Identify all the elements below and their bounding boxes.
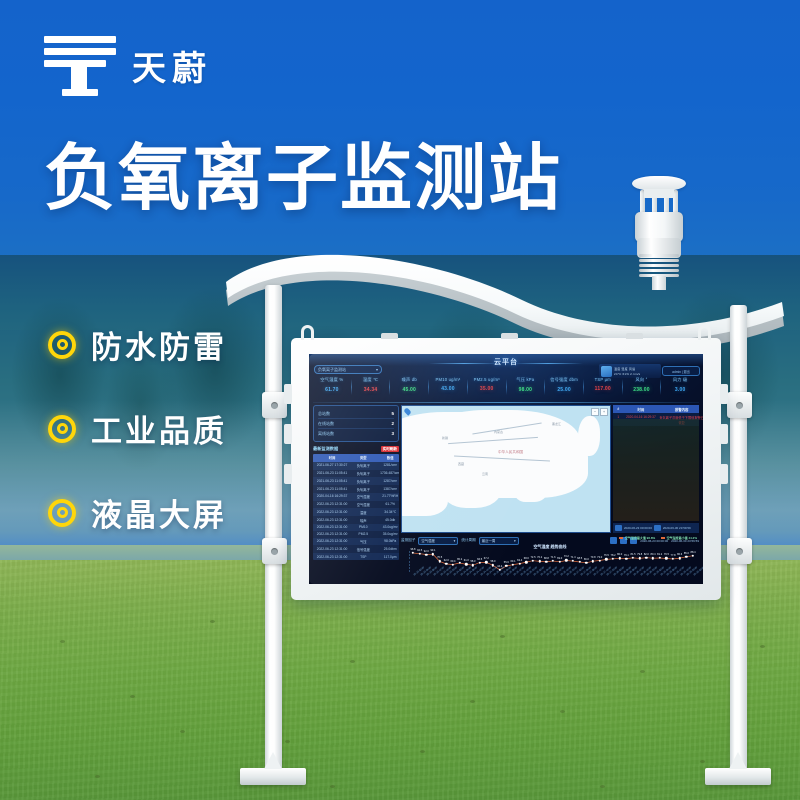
- table-cell: 1287/cm³: [375, 477, 399, 485]
- chart-point-label: 82.0: [644, 553, 649, 556]
- legend-item: 空气湿度最小值 44.2%: [661, 536, 697, 540]
- base-gusset-left: [264, 752, 282, 769]
- alarm-panel: # 时间 报警内容 1 2020-04-16 16:29:37 负氧离子浓度低于…: [613, 405, 699, 533]
- grass-speck: [60, 640, 65, 643]
- map-zoom-out-button[interactable]: −: [591, 408, 599, 416]
- site-selector[interactable]: 负氧离子监测站 ▾: [314, 365, 382, 374]
- table-cell: 负氧离子: [351, 485, 375, 493]
- chart-point-label: 72.5: [530, 556, 535, 559]
- alarm-col-index: #: [613, 405, 624, 413]
- post-clamp-right-lower: [727, 538, 752, 564]
- left-panel: 总站数5在线站数2离线站数3 最新监测数据 实时刷新 时间类型数值2021-06…: [313, 405, 399, 533]
- chart-point-label: 81.2: [657, 553, 662, 556]
- base-gusset-right: [729, 752, 747, 769]
- grass-speck: [95, 775, 100, 778]
- table-cell: 1736.487/cm³: [375, 470, 399, 478]
- calendar-icon[interactable]: [615, 525, 622, 531]
- ring-bullet-icon: [48, 331, 76, 359]
- table-cell: 2022-06-23 12:31:00: [313, 508, 351, 516]
- bar-chart-icon[interactable]: [610, 537, 617, 544]
- grass-speck: [180, 730, 185, 733]
- stat-key: 在线站数: [318, 421, 334, 427]
- sensor-mast: [652, 276, 666, 290]
- factor-label: 监测因子: [401, 538, 415, 543]
- alarm-footer[interactable]: 2020-06-23 00:00:00 2020-06-30 23:59:59: [613, 523, 699, 533]
- side-pad: [284, 464, 292, 484]
- chart-point-label: 92.0: [424, 549, 429, 552]
- lcd-screen[interactable]: 云平台 负氧离子监测站 ▾ 温度 湿度 风速 24°C 61% 2.1m/s a…: [309, 354, 703, 584]
- table-row[interactable]: 2022-06-23 12:31:00噪声45.0db: [313, 516, 399, 524]
- search-icon[interactable]: [654, 525, 661, 531]
- chart-point-label: 70.5: [437, 556, 442, 559]
- humidity-trend-chart: 空气湿度 趋势曲线 空气湿度最大值 96.8% 空气湿度最小值 44.2% 96…: [401, 544, 699, 582]
- chart-point-label: 70.8: [590, 556, 595, 559]
- table-cell: 2022-06-23 12:31:00: [313, 501, 351, 509]
- metric-value: 43.00: [429, 386, 467, 392]
- metric-label: 风向 °: [623, 377, 661, 383]
- chart-point-label: 78.2: [611, 554, 616, 557]
- chart-point-label: 69.0: [557, 557, 562, 560]
- legend-label: 空气湿度最小值 44.2%: [667, 536, 697, 540]
- data-table-title: 最新监测数据: [313, 446, 338, 452]
- brand-name: 天蔚: [132, 41, 212, 90]
- chart-point-label: 73.0: [597, 555, 602, 558]
- table-cell: 空气湿度: [351, 493, 375, 501]
- chart-point-label: 88.4: [691, 551, 696, 554]
- map-landmass-korea: [552, 436, 568, 458]
- chart-point-label: 76.5: [604, 554, 609, 557]
- side-pad: [720, 464, 728, 484]
- table-row[interactable]: 2020-04-16 16:29:37空气湿度21.77%RH: [313, 493, 399, 501]
- table-row[interactable]: 2021-06-23 11:05:41负氧离子1287/cm³: [313, 477, 399, 485]
- chart-y-tick: [409, 561, 410, 562]
- grass-specks: [0, 600, 800, 800]
- period-label: 统计周期: [461, 538, 475, 543]
- table-cell: 21.77%RH: [375, 493, 399, 501]
- metric-value: 35.00: [468, 386, 506, 392]
- table-row[interactable]: 2021-06-27 17:30:27负氧离子1281/cm³: [313, 462, 399, 470]
- metric-label: 温度 ℃: [352, 377, 390, 383]
- grass-speck: [130, 695, 135, 698]
- feature-item: 防水防雷: [48, 322, 227, 367]
- chart-point-label: 67.2: [484, 557, 489, 560]
- feature-label: 工业品质: [91, 406, 227, 451]
- grass-speck: [470, 700, 475, 703]
- chart-point-label: 93.1: [430, 549, 435, 552]
- stat-key: 离线站数: [318, 431, 334, 437]
- stat-value: 2: [391, 421, 394, 426]
- map-region-label: 黑龙江: [552, 422, 561, 426]
- feature-label: 液晶大屏: [91, 490, 227, 535]
- metric-cell: 噪声 db45.00: [390, 377, 428, 401]
- map-region-label: 内蒙古: [494, 430, 503, 434]
- table-row[interactable]: 2021-06-23 11:05:41负氧离子1736.487/cm³: [313, 470, 399, 478]
- chart-point-label: 66.5: [477, 557, 482, 560]
- metric-value: 98.00: [507, 387, 545, 393]
- alarm-range-start: 2020-06-23 00:00:00: [624, 526, 652, 530]
- grass-speck: [285, 740, 290, 743]
- sensor-neck: [644, 189, 674, 198]
- ring-bullet-icon: [48, 415, 76, 443]
- map-zoom-in-button[interactable]: +: [600, 408, 608, 416]
- metric-value: 117.00: [584, 386, 622, 392]
- brand-logo: 天蔚: [44, 34, 212, 96]
- chart-point-label: 60.1: [510, 560, 515, 563]
- chart-point-label: 80.6: [677, 553, 682, 556]
- map-zoom-controls[interactable]: − +: [591, 408, 608, 416]
- alarm-col-time: 时间: [624, 405, 659, 413]
- table-cell: 2022-06-23 12:31:00: [313, 545, 351, 553]
- weather-widget: 温度 湿度 风速 24°C 61% 2.1m/s: [599, 364, 661, 378]
- table-cell: 2021-06-27 17:30:27: [313, 462, 351, 470]
- chart-point-label: 81.5: [631, 553, 636, 556]
- chart-point-label: 44.2: [497, 565, 502, 568]
- table-cell: PM10: [351, 524, 375, 531]
- table-row[interactable]: 2022-06-23 12:31:00PM2.535.0ug/m³: [313, 531, 399, 538]
- table-cell: 61.7%: [375, 501, 399, 509]
- table-cell: 负氧离子: [351, 470, 375, 478]
- metric-cell: PM2.5 ug/m³35.00: [468, 377, 506, 401]
- metric-value: 61.70: [313, 387, 351, 393]
- table-cell: 98.0kPa: [375, 538, 399, 546]
- side-pad: [284, 384, 292, 404]
- support-post-left: [265, 285, 282, 775]
- table-cell: 2020-04-16 16:29:37: [313, 493, 351, 501]
- chart-point-label: 58.0: [490, 560, 495, 563]
- chart-point-label: 55.6: [504, 561, 509, 564]
- chart-point-label: 63.4: [517, 558, 522, 561]
- chart-point-label: 79.5: [664, 553, 669, 556]
- latest-data-table[interactable]: 时间类型数值2021-06-27 17:30:27负氧离子1281/cm³202…: [313, 454, 399, 560]
- ultrasonic-weather-sensor: [624, 176, 694, 288]
- map-landmass-arabia: [401, 466, 448, 516]
- metric-label: 噪声 db: [390, 377, 428, 383]
- table-cell: 信号强度: [351, 545, 375, 553]
- table-header-cell: 数值: [375, 454, 399, 462]
- chart-point-label: 68.0: [524, 557, 529, 560]
- table-row[interactable]: 2022-06-23 12:31:00温度34.34℃: [313, 508, 399, 516]
- chart-plot-area: 96.806-23 00:0094.506-23 04:0092.006-23 …: [411, 550, 697, 572]
- metric-label: 信号强度 dbm: [545, 377, 583, 383]
- feature-list: 防水防雷 工业品质 液晶大屏: [48, 322, 227, 535]
- grass-speck: [330, 785, 335, 788]
- chart-point-label: 73.2: [564, 555, 569, 558]
- metric-cell: 空气湿度 %61.70: [313, 377, 351, 401]
- stat-row: 在线站数2: [318, 419, 394, 429]
- map-region-label: 西藏: [458, 462, 464, 466]
- grass-speck: [560, 710, 565, 713]
- chart-y-tick: [409, 567, 410, 568]
- table-cell: 2022-06-23 12:31:00: [313, 553, 351, 560]
- chart-point-label: 80.0: [617, 553, 622, 556]
- stat-value: 5: [391, 411, 394, 416]
- metric-cell: 信号强度 dbm25.00: [545, 377, 583, 401]
- table-row[interactable]: 2022-06-23 12:31:00TSP117.0μm: [313, 553, 399, 560]
- table-header-cell: 类型: [351, 454, 375, 462]
- base-plate-left: [240, 768, 306, 785]
- metric-value: 25.00: [545, 387, 583, 393]
- chart-y-tick: [409, 558, 410, 559]
- legend-item: 空气湿度最大值 96.8%: [619, 536, 655, 540]
- user-chip[interactable]: admin | 退出: [662, 366, 700, 376]
- feature-item: 工业品质: [48, 406, 227, 451]
- map-region-label: 新疆: [442, 436, 448, 440]
- table-cell: 温度: [351, 508, 375, 516]
- table-row[interactable]: 2022-06-23 12:31:00信号强度25.0dbm: [313, 545, 399, 553]
- chart-point-label: 79.8: [637, 553, 642, 556]
- grass-speck: [760, 645, 765, 648]
- chart-point-label: 70.2: [537, 556, 542, 559]
- stat-row: 离线站数3: [318, 429, 394, 438]
- product-marketing-poster: 天蔚 负氧离子监测站 防水防雷 工业品质 液晶大屏: [0, 0, 800, 800]
- table-header-cell: 时间: [313, 454, 351, 462]
- factor-select-value: 空气湿度: [421, 538, 435, 543]
- metric-value: 3.00: [661, 387, 699, 393]
- table-cell: 噪声: [351, 516, 375, 524]
- chart-point-label: 71.6: [550, 556, 555, 559]
- table-cell: 25.0dbm: [375, 545, 399, 553]
- table-cell: TSP: [351, 553, 375, 560]
- metric-label: 气压 kPa: [507, 377, 545, 383]
- table-cell: 空气湿度: [351, 501, 375, 509]
- status-badge: 实时刷新: [381, 446, 399, 452]
- metric-label: PM2.5 ug/m³: [468, 377, 506, 382]
- table-cell: 2022-06-23 12:31:00: [313, 531, 351, 538]
- metric-value: 238.00: [623, 387, 661, 393]
- metric-cell: 气压 kPa98.00: [507, 377, 545, 401]
- chart-legend: 空气湿度最大值 96.8% 空气湿度最小值 44.2%: [619, 536, 697, 540]
- radiation-shield-fins: [639, 254, 679, 278]
- table-row[interactable]: 2022-06-23 12:31:00PM1043.0ug/m³: [313, 524, 399, 531]
- chart-point-label: 80.4: [651, 553, 656, 556]
- chart-point-label: 94.5: [417, 549, 422, 552]
- post-clamp-right-upper: [727, 392, 752, 418]
- header-divider: [313, 402, 699, 403]
- table-cell: 2021-06-23 11:05:41: [313, 485, 351, 493]
- table-cell: 1281/cm³: [375, 462, 399, 470]
- chart-y-tick: [409, 555, 410, 556]
- weather-line: 温度 湿度 风速: [614, 367, 659, 371]
- legend-label: 空气湿度最大值 96.8%: [625, 536, 655, 540]
- station-stats: 总站数5在线站数2离线站数3: [313, 405, 399, 442]
- chevron-down-icon: ▾: [514, 539, 516, 543]
- display-cabinet: 云平台 负氧离子监测站 ▾ 温度 湿度 风速 24°C 61% 2.1m/s a…: [291, 338, 721, 600]
- chart-point-label: 68.8: [544, 557, 549, 560]
- map-landmass-japan: [578, 416, 600, 456]
- chevron-down-icon: ▾: [376, 367, 378, 372]
- chart-y-tick: [409, 552, 410, 553]
- table-cell: 2022-06-23 12:31:00: [313, 538, 351, 546]
- lifting-eye-left: [301, 325, 314, 340]
- chart-y-tick: [409, 564, 410, 565]
- stat-value: 3: [391, 431, 394, 436]
- chart-point-label: 79.1: [624, 554, 629, 557]
- alarm-table-header: # 时间 报警内容: [613, 405, 699, 413]
- chart-point-label: 60.4: [450, 559, 455, 562]
- chart-point-label: 65.2: [457, 558, 462, 561]
- grass-speck: [700, 760, 705, 763]
- grass-speck: [600, 785, 605, 788]
- grass-speck: [350, 660, 355, 663]
- metric-cell: 温度 ℃34.34: [352, 377, 390, 401]
- table-cell: 34.34℃: [375, 508, 399, 516]
- page-title: 负氧离子监测站: [44, 142, 562, 214]
- table-cell: PM2.5: [351, 531, 375, 538]
- chart-point-label: 66.0: [584, 558, 589, 561]
- grass-speck: [500, 635, 505, 638]
- metric-value: 34.34: [352, 387, 390, 393]
- tianwei-t-mark-icon: [44, 34, 116, 96]
- table-cell: 2021-06-23 11:05:41: [313, 477, 351, 485]
- map-landmass-indochina: [514, 472, 548, 502]
- chart-point-label: 85.0: [684, 552, 689, 555]
- table-cell: 2022-06-23 12:31:00: [313, 524, 351, 531]
- metric-label: PM10 ug/m³: [429, 377, 467, 382]
- ring-bullet-icon: [48, 499, 76, 527]
- table-row[interactable]: 2021-06-23 11:05:41负氧离子1387/cm³: [313, 485, 399, 493]
- chart-point-label: 61.0: [464, 559, 469, 562]
- metric-cell: PM10 ug/m³43.00: [429, 377, 467, 401]
- mount-tab: [501, 333, 518, 339]
- mount-tab: [626, 333, 643, 339]
- table-cell: 负氧离子: [351, 462, 375, 470]
- feature-label: 防水防雷: [91, 322, 227, 367]
- alarm-range-end: 2020-06-30 23:59:59: [663, 526, 691, 530]
- map-region-label: 云南: [482, 472, 488, 476]
- metric-cell: 风力 级3.00: [661, 377, 699, 401]
- china-map[interactable]: 中华人民共和国 新疆 内蒙古 西藏 云南 黑龙江 − +: [401, 405, 611, 533]
- table-row[interactable]: 2022-06-23 12:31:00空气湿度61.7%: [313, 501, 399, 509]
- table-row[interactable]: 2022-06-23 12:31:00气压98.0kPa: [313, 538, 399, 546]
- alarm-col-content: 报警内容: [658, 405, 703, 413]
- table-cell: 气压: [351, 538, 375, 546]
- chart-y-tick: [409, 571, 410, 572]
- weather-cloud-icon: [601, 366, 612, 377]
- metric-value: 45.00: [390, 387, 428, 393]
- stat-row: 总站数5: [318, 409, 394, 419]
- base-plate-right: [705, 768, 771, 785]
- site-selector-value: 负氧离子监测站: [318, 367, 346, 373]
- mount-tab: [381, 333, 398, 339]
- metric-label: TSP μm: [584, 377, 622, 382]
- table-cell: 35.0ug/m³: [375, 531, 399, 538]
- table-cell: 2021-06-23 11:05:41: [313, 470, 351, 478]
- cloud-platform-dashboard: 云平台 负氧离子监测站 ▾ 温度 湿度 风速 24°C 61% 2.1m/s a…: [309, 354, 703, 584]
- metric-cell: TSP μm117.00: [584, 377, 622, 401]
- metric-label: 空气湿度 %: [313, 377, 351, 383]
- side-pad: [720, 384, 728, 404]
- chart-point-label: 62.0: [444, 559, 449, 562]
- chevron-down-icon: ▾: [454, 539, 456, 543]
- grass-speck: [420, 750, 425, 753]
- metric-strip: 空气湿度 %61.70温度 ℃34.34噪声 db45.00PM10 ug/m³…: [313, 377, 699, 401]
- table-cell: 45.0db: [375, 516, 399, 524]
- weather-line: 24°C 61% 2.1m/s: [614, 372, 659, 376]
- grass-speck: [640, 670, 645, 673]
- side-pad: [284, 424, 292, 444]
- feature-item: 液晶大屏: [48, 490, 227, 535]
- chart-point-label: 58.3: [470, 560, 475, 563]
- metric-cell: 风向 °238.00: [623, 377, 661, 401]
- table-cell: 2022-06-23 12:31:00: [313, 516, 351, 524]
- stat-key: 总站数: [318, 411, 330, 417]
- table-cell: 117.0μm: [375, 553, 399, 560]
- data-table-header: 最新监测数据 实时刷新: [313, 446, 399, 452]
- period-select-value: 最近一周: [482, 538, 496, 543]
- metric-label: 风力 级: [661, 377, 699, 383]
- table-cell: 1387/cm³: [375, 485, 399, 493]
- chart-point-label: 68.5: [577, 557, 582, 560]
- chart-point-label: 96.8: [410, 548, 415, 551]
- map-country-label: 中华人民共和国: [498, 450, 523, 455]
- side-pad: [720, 424, 728, 444]
- table-header-row: 时间类型数值: [313, 454, 399, 462]
- map-landmass-india: [442, 464, 502, 508]
- table-cell: 43.0ug/m³: [375, 524, 399, 531]
- post-clamp-left-lower: [262, 538, 287, 564]
- chart-point-label: 77.8: [671, 554, 676, 557]
- lifting-eye-right: [698, 325, 711, 340]
- alarm-panel-photo-bg: [613, 419, 699, 521]
- table-cell: 负氧离子: [351, 477, 375, 485]
- chart-point-label: 71.4: [570, 556, 575, 559]
- grass-speck: [210, 620, 215, 623]
